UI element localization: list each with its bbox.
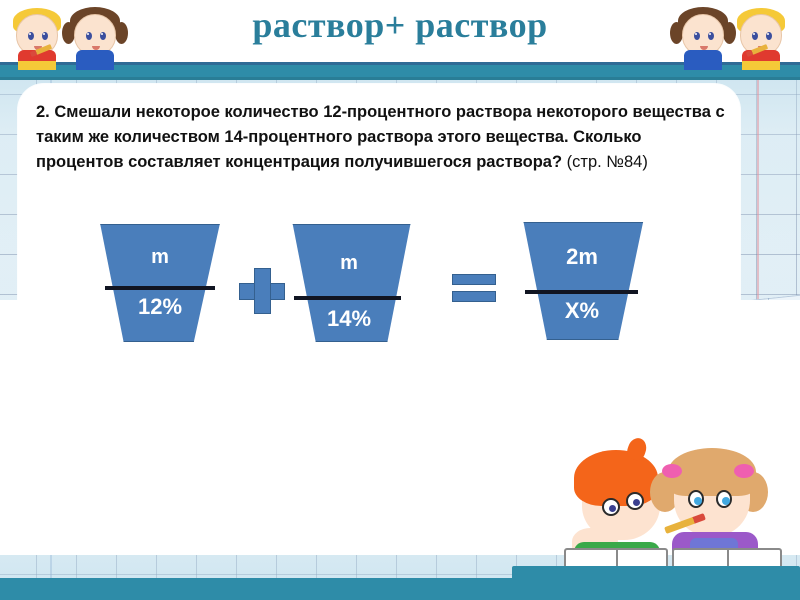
eye-icon [86, 32, 92, 40]
vessel-3-percent-label: X% [517, 298, 647, 324]
corner-kid-girl-right [672, 2, 734, 64]
boy-eye-icon [626, 492, 644, 510]
header-divider-bar [0, 62, 800, 80]
vessel-1: m 12% [95, 224, 225, 342]
equals-bottom-bar [452, 291, 496, 302]
eye-icon [28, 32, 34, 40]
trapezoid-shape [95, 224, 225, 342]
shirt-icon [684, 50, 722, 70]
vessel-2-divider-line [294, 296, 402, 300]
plus-icon [239, 268, 285, 314]
eye-icon [694, 32, 700, 40]
eye-icon [752, 32, 758, 40]
vessel-3-mass-label: 2m [517, 244, 647, 270]
eye-icon [708, 32, 714, 40]
eye-icon [766, 32, 772, 40]
shirt-icon [76, 50, 114, 70]
vessel-1-divider-line [105, 286, 214, 290]
eye-icon [42, 32, 48, 40]
corner-kid-girl-left [64, 2, 126, 64]
plus-center-fill [255, 284, 269, 298]
equals-icon [452, 274, 496, 304]
vessel-2-mass-label: m [285, 252, 413, 275]
girl-eye-icon [716, 490, 732, 508]
vessel-3-divider-line [525, 290, 638, 294]
corner-kid-boy-left [6, 2, 68, 64]
girl-eye-icon [688, 490, 704, 508]
boy-hair-icon [574, 450, 658, 506]
problem-statement: 2. Смешали некоторое количество 12-проце… [36, 100, 726, 175]
footer-bar [0, 578, 800, 600]
vessel-1-percent-label: 12% [95, 294, 225, 320]
vessel-2-percent-label: 14% [285, 306, 413, 332]
equals-top-bar [452, 274, 496, 285]
slide-canvas: раствор+ раствор [0, 0, 800, 600]
boy-eye-icon [602, 498, 620, 516]
problem-reference: (стр. №84) [567, 153, 648, 171]
vessel-3: 2m X% [517, 222, 647, 340]
eye-icon [100, 32, 106, 40]
hair-bow-icon [662, 464, 682, 478]
vessel-1-mass-label: m [95, 246, 225, 269]
equation-diagram: m 12% m 14% 2m X% [0, 218, 800, 348]
vessel-2: m 14% [285, 224, 413, 342]
hair-bow-icon [734, 464, 754, 478]
bottom-kids-scene [556, 424, 800, 574]
corner-kid-boy-right [730, 2, 792, 64]
